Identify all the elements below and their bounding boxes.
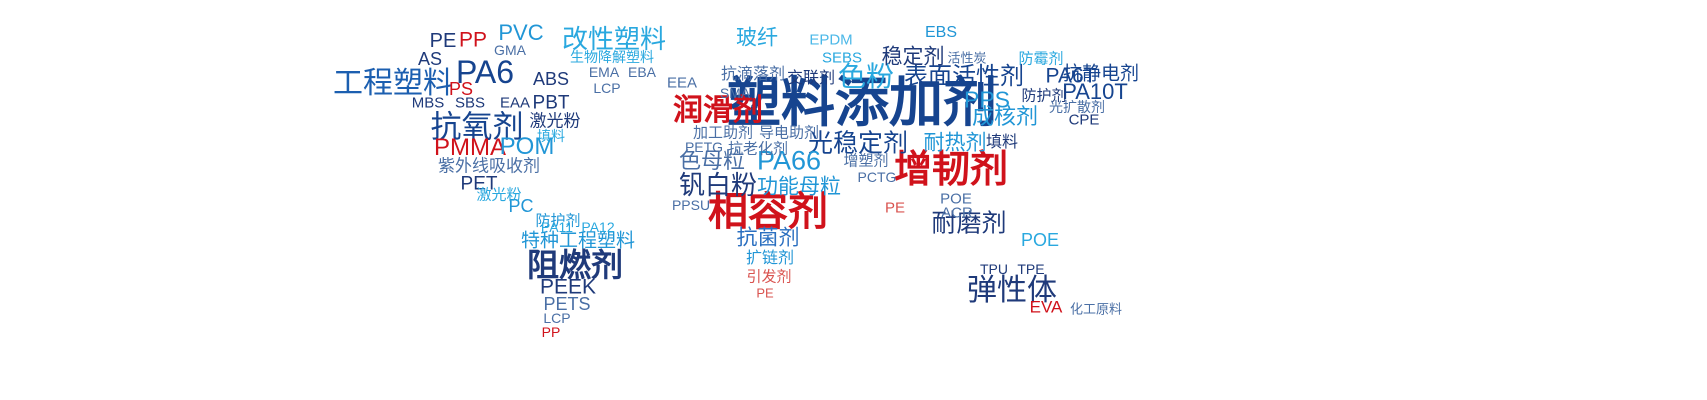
word-cloud-term[interactable]: LCP [593,81,620,95]
word-cloud-term[interactable]: PP [459,30,487,51]
word-cloud-term[interactable]: EMA [589,65,619,79]
word-cloud-term[interactable]: EPDM [809,33,852,48]
word-cloud-term[interactable]: 抗老化剂 [728,142,788,157]
word-cloud-term[interactable]: CPE [1069,113,1100,128]
word-cloud-term[interactable]: 表面活性剂 [904,65,1024,89]
word-cloud-term[interactable]: PPSU [672,198,710,212]
word-cloud-term[interactable]: POE [1021,231,1059,249]
word-cloud-term[interactable]: PVC [498,22,543,44]
word-cloud-term[interactable]: 激光粉 [476,188,521,203]
word-cloud-term[interactable]: 玻纤 [736,28,778,49]
word-cloud-term[interactable]: 特种工程塑料 [521,232,635,251]
word-cloud-term[interactable]: SEBS [822,51,862,66]
word-cloud-term[interactable]: 交联剂 [787,71,835,87]
word-cloud-term[interactable]: TPU [980,262,1008,276]
word-cloud-term[interactable]: TPE [1017,262,1044,276]
word-cloud-term[interactable]: 导电助剂 [759,126,819,141]
word-cloud-term[interactable]: PCTG [858,170,897,184]
word-cloud-term[interactable]: 化工原料 [1070,303,1122,316]
word-cloud-term[interactable]: PETG [685,140,723,154]
word-cloud-term[interactable]: 功能母粒 [757,177,841,198]
word-cloud-term[interactable]: PA11 [541,220,573,234]
word-cloud-term[interactable]: 增韧剂 [894,151,1008,189]
word-cloud-term[interactable]: PE [885,201,905,216]
word-cloud-term[interactable]: 填料 [537,129,565,143]
word-cloud-term[interactable]: 激光粉 [530,113,581,130]
word-cloud-term[interactable]: LCP [543,311,570,325]
word-cloud-term[interactable]: ACR [941,206,973,221]
word-cloud-term[interactable]: PE [430,31,457,51]
word-cloud-term[interactable]: PBT [533,94,570,113]
word-cloud-term[interactable]: 稳定剂 [882,47,945,68]
word-cloud-term[interactable]: 抗菌剂 [737,228,800,249]
word-cloud-term[interactable]: EBS [925,25,957,41]
word-cloud-term[interactable]: 防霉剂 [1018,52,1063,67]
word-cloud-term[interactable]: SMA [720,86,750,100]
word-cloud-term[interactable]: 耐热剂 [924,133,987,154]
word-cloud-term[interactable]: 活性炭 [947,52,986,65]
word-cloud-term[interactable]: EEA [667,76,697,91]
word-cloud-term[interactable]: GMA [494,43,526,57]
word-cloud-term[interactable]: MBS [412,96,445,111]
word-cloud-term[interactable]: ABS [533,70,569,88]
word-cloud-term[interactable]: PA12 [581,220,614,234]
word-cloud-term[interactable]: AS [418,50,442,68]
word-cloud-term[interactable]: 抗滴落剂 [721,67,785,83]
word-cloud-term[interactable]: 生物降解塑料 [570,50,654,64]
word-cloud-term[interactable]: PA6T [1046,66,1097,87]
word-cloud-term[interactable]: PP [542,325,561,339]
word-cloud-term[interactable]: 填料 [986,135,1018,151]
word-cloud-term[interactable]: 紫外线吸收剂 [438,158,540,175]
word-cloud-term[interactable]: 引发剂 [746,270,791,285]
word-cloud-term[interactable]: 扩链剂 [746,251,794,267]
word-cloud-term[interactable]: EAA [500,96,530,111]
word-cloud-term[interactable]: SBS [455,96,485,111]
word-cloud-term[interactable]: 成核剂 [972,106,1038,128]
word-cloud-term[interactable]: EVA [1030,299,1063,316]
word-cloud-term[interactable]: 钒白粉 [679,172,757,198]
word-cloud-term[interactable]: PE [756,287,773,300]
word-cloud-term[interactable]: 增塑剂 [843,154,888,169]
word-cloud: 塑料添加剂相容剂增韧剂阻燃剂润滑剂工程塑料抗氧剂PA6弹性体光稳定剂表面活性剂色… [0,0,1707,400]
word-cloud-term[interactable]: EBA [628,65,656,79]
